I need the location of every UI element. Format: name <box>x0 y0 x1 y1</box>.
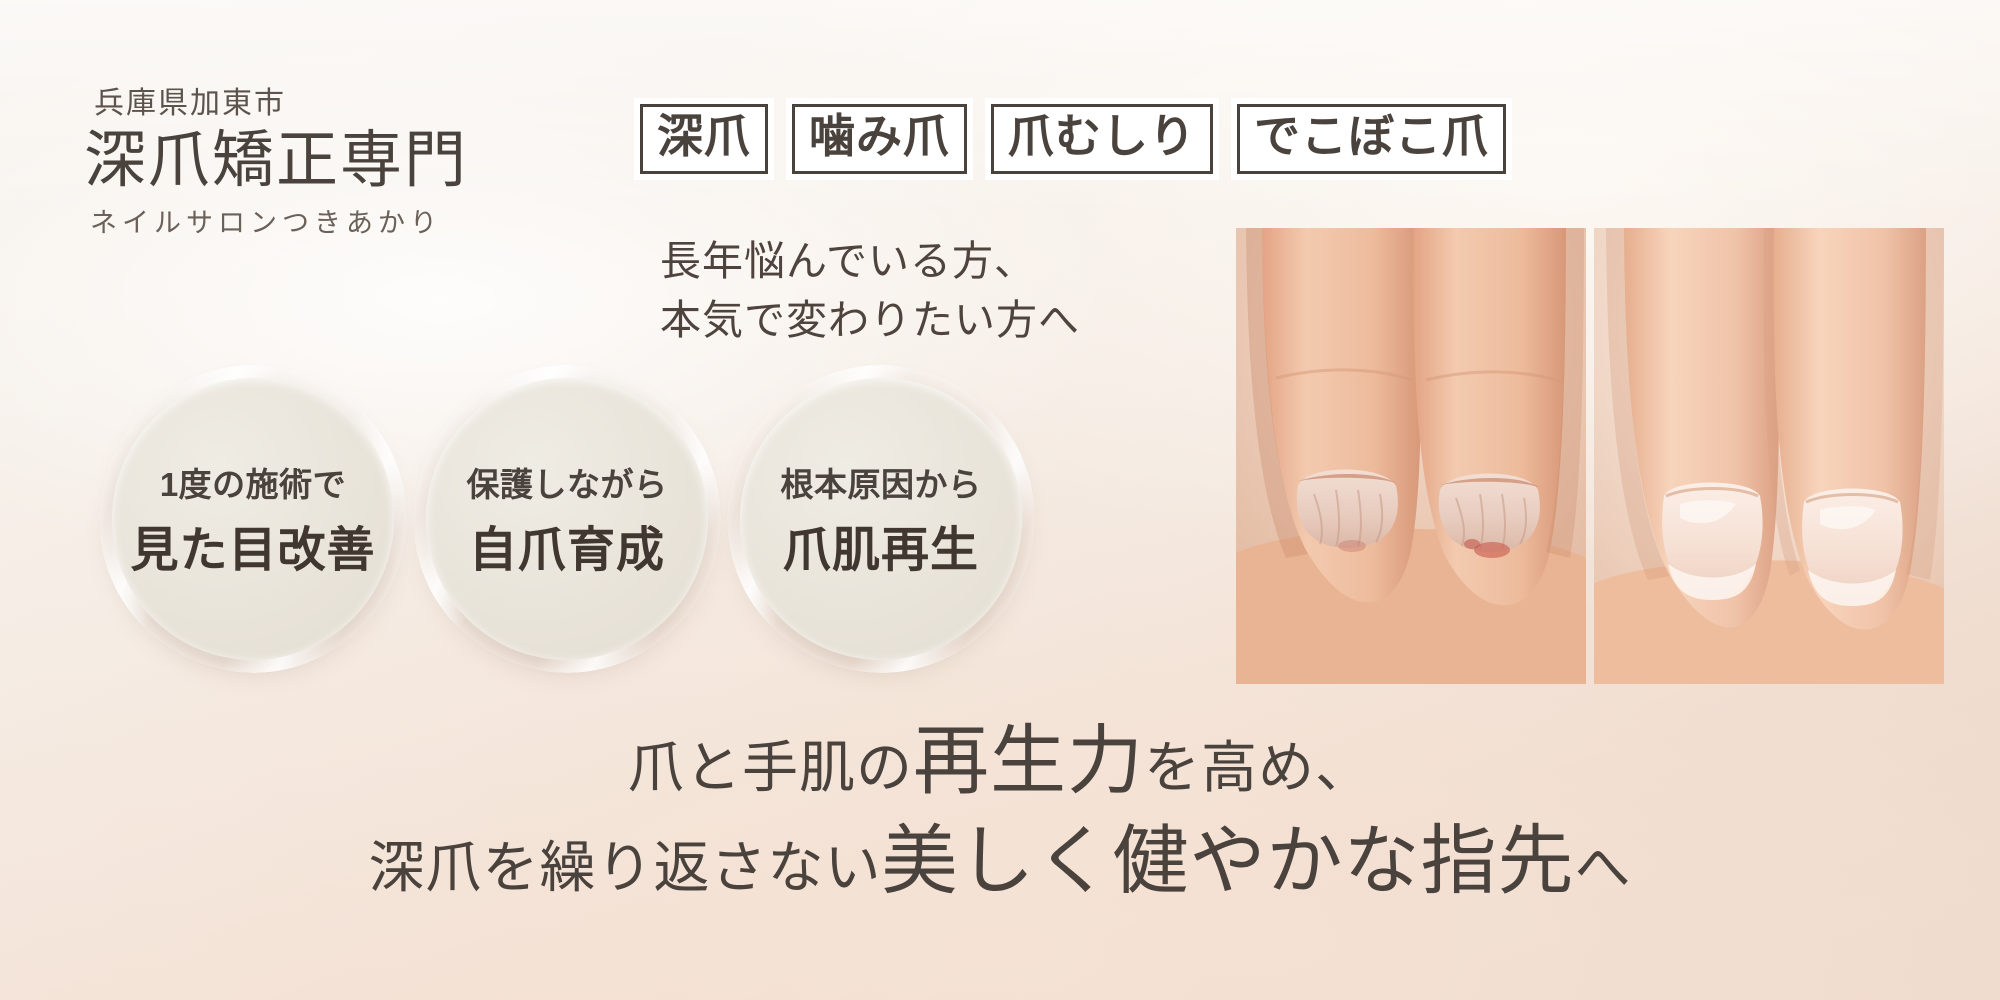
headline-2-prefix: 深爪を繰り返さない <box>369 836 882 899</box>
brand-title: 深爪矯正専門 <box>84 128 468 193</box>
brand-block: 兵庫県加東市 深爪矯正専門 ネイルサロンつきあかり <box>84 78 468 240</box>
headline-2-emphasis: 美しく健やかな指先 <box>882 819 1575 904</box>
headline-line-2: 深爪を繰り返さない美しく健やかな指先へ <box>0 812 2000 912</box>
promo-banner: 兵庫県加東市 深爪矯正専門 ネイルサロンつきあかり 深爪 噛み爪 爪むしり でこ… <box>0 0 2000 1000</box>
keyword-tag: 深爪 <box>640 104 768 174</box>
tagline: 長年悩んでいる方、 本気で変わりたい方へ <box>660 232 1080 351</box>
headline-1-prefix: 爪と手肌の <box>628 736 913 799</box>
keyword-tag-label: でこぼこ爪 <box>1254 111 1489 163</box>
keyword-tag-label: 噛み爪 <box>809 111 950 163</box>
keyword-tag-list: 深爪 噛み爪 爪むしり でこぼこ爪 <box>640 104 1506 174</box>
after-nails-photo <box>1594 228 1944 684</box>
keyword-tag: でこぼこ爪 <box>1237 104 1506 174</box>
benefit-badge-subtext: 1度の施術で <box>160 458 346 506</box>
headline-line-1: 爪と手肌の再生力を高め、 <box>0 712 2000 812</box>
headline-1-emphasis: 再生力 <box>913 719 1144 804</box>
before-after-photo-pair <box>1236 228 1944 684</box>
benefit-badge-1: 1度の施術で 見た目改善 <box>112 378 394 660</box>
headline-2-suffix: へ <box>1575 836 1632 899</box>
bottom-headline: 爪と手肌の再生力を高め、 深爪を繰り返さない美しく健やかな指先へ <box>0 712 2000 913</box>
benefit-badge-3: 根本原因から 爪肌再生 <box>740 378 1022 660</box>
benefit-badge-2: 保護しながら 自爪育成 <box>426 378 708 660</box>
brand-subtitle: ネイルサロンつきあかり <box>90 201 468 240</box>
tagline-line-1: 長年悩んでいる方、 <box>660 232 1080 291</box>
keyword-tag-label: 深爪 <box>657 111 751 163</box>
benefit-badge-list: 1度の施術で 見た目改善 保護しながら 自爪育成 根本原因から 爪肌再生 <box>112 378 1022 660</box>
keyword-tag-label: 爪むしり <box>1008 111 1196 163</box>
benefit-badge-title: 見た目改善 <box>130 510 375 580</box>
benefit-badge-title: 爪肌再生 <box>783 510 979 580</box>
benefit-badge-title: 自爪育成 <box>469 510 665 580</box>
brand-region: 兵庫県加東市 <box>94 78 468 122</box>
keyword-tag: 噛み爪 <box>792 104 967 174</box>
headline-1-suffix: を高め、 <box>1144 736 1372 799</box>
benefit-badge-subtext: 根本原因から <box>781 458 982 506</box>
benefit-badge-subtext: 保護しながら <box>467 458 668 506</box>
before-nails-photo <box>1236 228 1586 684</box>
keyword-tag: 爪むしり <box>991 104 1213 174</box>
tagline-line-2: 本気で変わりたい方へ <box>660 291 1080 350</box>
